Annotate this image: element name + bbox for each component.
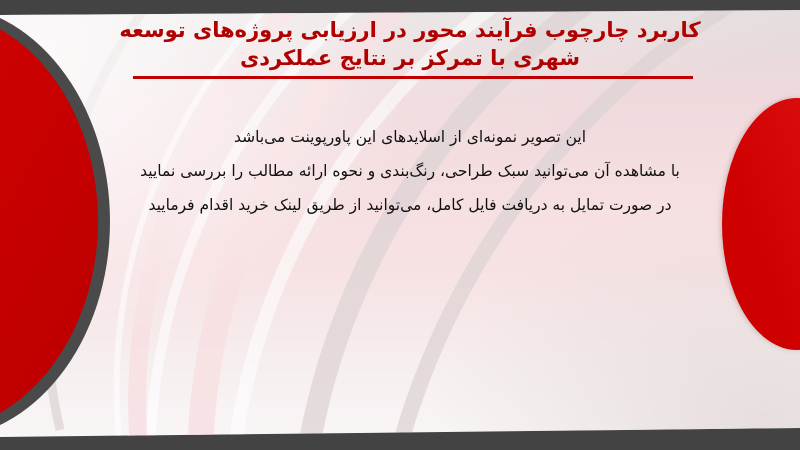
slide-body-line-1: این تصویر نمونه‌ای از اسلایدهای این پاور… xyxy=(120,120,700,154)
slide-title: کاربرد چارچوب فرآیند محور در ارزیابی پرو… xyxy=(110,16,710,72)
slide-body-line-3: در صورت تمایل به دریافت فایل کامل، می‌تو… xyxy=(120,188,700,222)
presentation-slide: کاربرد چارچوب فرآیند محور در ارزیابی پرو… xyxy=(0,0,800,450)
slide-title-line-1: کاربرد چارچوب فرآیند محور در ارزیابی پرو… xyxy=(110,16,710,44)
slide-body: این تصویر نمونه‌ای از اسلایدهای این پاور… xyxy=(120,120,700,222)
title-underline-rule xyxy=(133,76,693,79)
slide-body-line-2: با مشاهده آن می‌توانید سبک طراحی، رنگ‌بن… xyxy=(120,154,700,188)
slide-content: کاربرد چارچوب فرآیند محور در ارزیابی پرو… xyxy=(0,0,800,450)
slide-title-line-2: شهری با تمرکز بر نتایج عملکردی xyxy=(110,44,710,72)
